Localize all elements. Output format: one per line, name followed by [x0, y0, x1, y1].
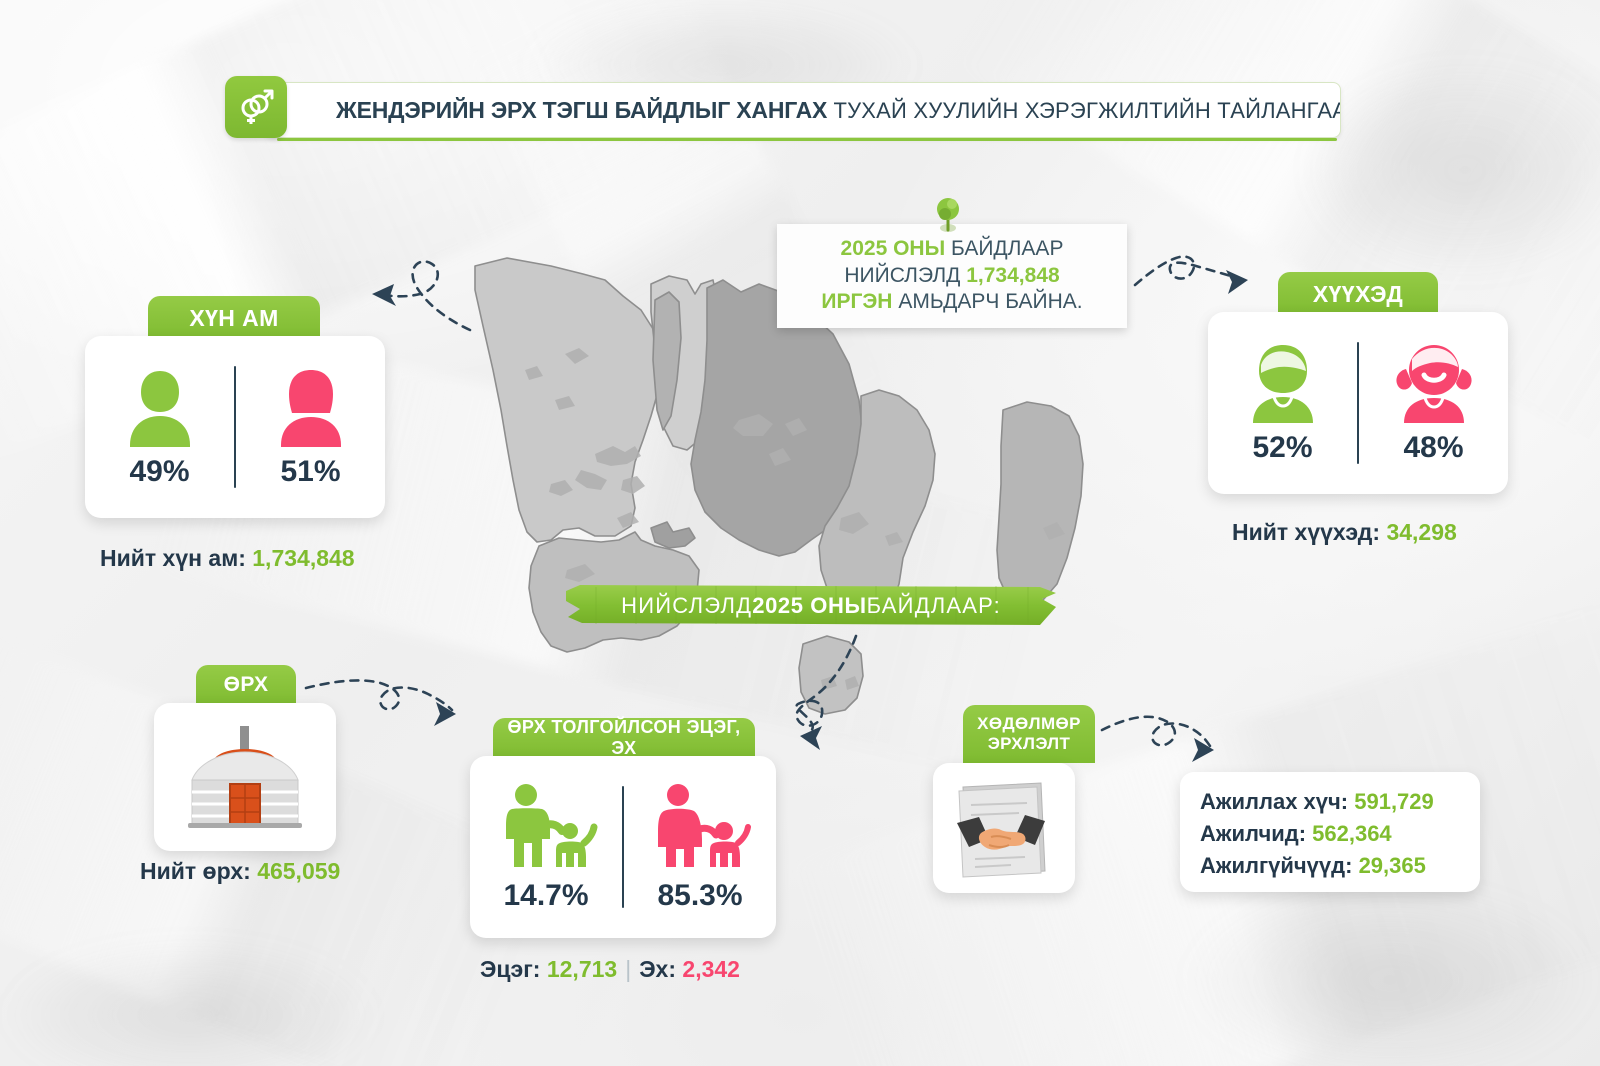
page-title-rest: ТУХАЙ ХУУЛИЙН ХЭРЭГЖИЛТИЙН ТАЙЛАНГААС: [827, 98, 1341, 123]
population-note-card: 2025 ОНЫ БАЙДЛААР НИЙСЛЭЛД 1,734,848 ИРГ…: [777, 224, 1127, 328]
note-line1-rest: БАЙДЛААР: [945, 237, 1063, 260]
note-citizen-word: ИРГЭН: [821, 290, 892, 313]
banner-post: БАЙДЛААР:: [867, 593, 1001, 619]
infographic-canvas: ЖЕНДЭРИЙН ЭРХ ТЭГШ БАЙДЛЫГ ХАНГАХ ТУХАЙ …: [0, 0, 1600, 1066]
employment-row: Ажилчид: 562,364: [1200, 818, 1480, 850]
gender-symbol-icon: [225, 76, 287, 138]
note-line-2: НИЙСЛЭЛД 1,734,848: [844, 263, 1059, 290]
labor-force-value: 591,729: [1354, 789, 1434, 814]
employed-value: 562,364: [1312, 821, 1392, 846]
father-with-child-icon: [494, 781, 598, 873]
employed-label: Ажилчид:: [1200, 821, 1312, 846]
household-caption-value: 465,059: [257, 858, 340, 884]
banner-nislel: НИЙСЛЭЛД 2025 ОНЫ БАЙДЛААР:: [566, 585, 1056, 627]
banner-text: НИЙСЛЭЛД 2025 ОНЫ БАЙДЛААР:: [566, 585, 1056, 627]
caption-separator: |: [617, 956, 639, 982]
banner-pre: НИЙСЛЭЛД: [621, 593, 752, 619]
ger-yurt-icon: [170, 718, 320, 836]
mother-value: 2,342: [682, 956, 740, 982]
girl-icon: [1388, 341, 1480, 425]
children-caption: Нийт хүүхэд: 34,298: [1232, 519, 1457, 546]
children-card: 52% 48%: [1208, 312, 1508, 494]
household-head-caption: Эцэг: 12,713|Эх: 2,342: [480, 956, 740, 983]
employment-stats-box: Ажиллах хүч: 591,729 Ажилчид: 562,364 Аж…: [1180, 772, 1480, 892]
population-female-pct: 51%: [280, 455, 340, 489]
tag-employment-line1: ХӨДӨЛМӨР: [977, 714, 1081, 734]
header-underline: [277, 138, 1337, 141]
employment-card: [933, 763, 1075, 893]
tag-population: ХҮН АМ: [148, 296, 320, 340]
header-bar: ЖЕНДЭРИЙН ЭРХ ТЭГШ БАЙДЛЫГ ХАНГАХ ТУХАЙ …: [265, 82, 1341, 138]
tag-household-head: ӨРХ ТОЛГОЙЛСОН ЭЦЭГ, ЭХ: [493, 718, 755, 758]
header: ЖЕНДЭРИЙН ЭРХ ТЭГШ БАЙДЛЫГ ХАНГАХ ТУХАЙ …: [225, 82, 1341, 140]
unemployed-label: Ажилгүйчүүд:: [1200, 853, 1359, 878]
pushpin-icon: [930, 192, 966, 234]
woman-icon: [273, 365, 349, 449]
household-head-father-pct: 14.7%: [503, 879, 588, 913]
page-title-strong: ЖЕНДЭРИЙН ЭРХ ТЭГШ БАЙДЛЫГ ХАНГАХ: [336, 97, 827, 123]
population-caption-label: Нийт хүн ам:: [100, 545, 252, 571]
note-line-3: ИРГЭН АМЬДАРЧ БАЙНА.: [821, 289, 1082, 316]
note-population-value: 1,734,848: [966, 264, 1059, 287]
tag-household-label: ӨРХ: [224, 673, 269, 697]
tag-household-head-label: ӨРХ ТОЛГОЙЛСОН ЭЦЭГ, ЭХ: [493, 717, 755, 759]
children-caption-label: Нийт хүүхэд:: [1232, 519, 1386, 545]
note-line-1: 2025 ОНЫ БАЙДЛААР: [841, 236, 1064, 263]
banner-year: 2025 ОНЫ: [752, 593, 866, 619]
tag-employment: ХӨДӨЛМӨР ЭРХЛЭЛТ: [963, 705, 1095, 763]
tag-employment-line2: ЭРХЛЭЛТ: [988, 734, 1071, 754]
children-girl-pct: 48%: [1403, 431, 1463, 465]
tag-household: ӨРХ: [196, 665, 296, 705]
household-head-father: 14.7%: [470, 756, 622, 938]
tag-children-label: ХҮҮХЭД: [1313, 281, 1403, 308]
tag-children: ХҮҮХЭД: [1278, 272, 1438, 316]
children-girl: 48%: [1359, 312, 1508, 494]
mother-with-child-icon: [648, 781, 752, 873]
children-boy: 52%: [1208, 312, 1357, 494]
household-head-mother-pct: 85.3%: [657, 879, 742, 913]
household-caption-label: Нийт өрх:: [140, 858, 257, 884]
population-caption-value: 1,734,848: [252, 545, 354, 571]
father-label: Эцэг:: [480, 956, 547, 982]
page-title: ЖЕНДЭРИЙН ЭРХ ТЭГШ БАЙДЛЫГ ХАНГАХ ТУХАЙ …: [336, 97, 1341, 124]
note-year: 2025 ОНЫ: [841, 237, 946, 260]
man-icon: [122, 365, 198, 449]
population-male-pct: 49%: [129, 455, 189, 489]
household-card: [154, 703, 336, 851]
mother-label: Эх:: [639, 956, 682, 982]
population-card: 49% 51%: [85, 336, 385, 518]
household-caption: Нийт өрх: 465,059: [140, 858, 340, 885]
household-head-mother: 85.3%: [624, 756, 776, 938]
household-head-card: 14.7% 85.3%: [470, 756, 776, 938]
population-female: 51%: [236, 336, 385, 518]
note-city-label: НИЙСЛЭЛД: [844, 264, 966, 287]
note-line3-rest: АМЬДАРЧ БАЙНА.: [892, 290, 1082, 313]
population-male: 49%: [85, 336, 234, 518]
children-caption-value: 34,298: [1386, 519, 1456, 545]
father-value: 12,713: [547, 956, 617, 982]
boy-icon: [1243, 341, 1323, 425]
employment-row: Ажиллах хүч: 591,729: [1200, 786, 1480, 818]
employment-row: Ажилгүйчүүд: 29,365: [1200, 850, 1480, 882]
children-boy-pct: 52%: [1252, 431, 1312, 465]
population-caption: Нийт хүн ам: 1,734,848: [100, 545, 355, 572]
unemployed-value: 29,365: [1359, 853, 1426, 878]
tag-population-label: ХҮН АМ: [189, 305, 278, 332]
labor-force-label: Ажиллах хүч:: [1200, 789, 1354, 814]
handshake-document-icon: [949, 775, 1059, 881]
